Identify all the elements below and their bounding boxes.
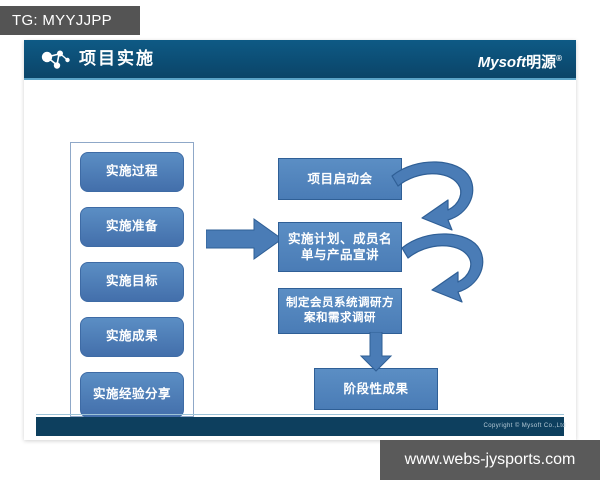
tg-tag: TG: MYYJJPP bbox=[0, 6, 140, 35]
list-item[interactable]: 实施经验分享 bbox=[80, 372, 184, 418]
brand-logo-cn: 明源 bbox=[526, 54, 556, 71]
page-title: 项目实施 bbox=[79, 40, 155, 78]
implementation-flow-diagram: 实施过程 实施准备 实施目标 实施成果 实施经验分享 项目启动会 实施计划、成员… bbox=[24, 80, 576, 415]
list-item[interactable]: 实施目标 bbox=[80, 262, 184, 302]
arrow-left-to-right-icon bbox=[206, 216, 284, 262]
arrow-research-to-results-icon bbox=[359, 332, 393, 372]
list-item[interactable]: 实施准备 bbox=[80, 207, 184, 247]
footer-divider bbox=[36, 414, 564, 415]
site-watermark: www.webs-jysports.com bbox=[380, 440, 600, 480]
brand-logo-en: Mysoft bbox=[478, 54, 526, 71]
copyright-text: Copyright © Mysoft Co.,Ltd bbox=[483, 417, 566, 436]
flow-node-results[interactable]: 阶段性成果 bbox=[314, 368, 438, 410]
flow-node-research[interactable]: 制定会员系统调研方案和需求调研 bbox=[278, 288, 402, 334]
molecule-icon bbox=[38, 48, 72, 72]
list-item[interactable]: 实施过程 bbox=[80, 152, 184, 192]
curved-arrow-plan-to-research-icon bbox=[392, 228, 492, 314]
registered-mark-icon: ® bbox=[556, 54, 562, 63]
slide-canvas: 项目实施 Mysoft明源® 实施过程 实施准备 实施目标 实施成果 实施经验分… bbox=[24, 40, 576, 440]
brand-logo: Mysoft明源® bbox=[478, 40, 562, 78]
list-item[interactable]: 实施成果 bbox=[80, 317, 184, 357]
